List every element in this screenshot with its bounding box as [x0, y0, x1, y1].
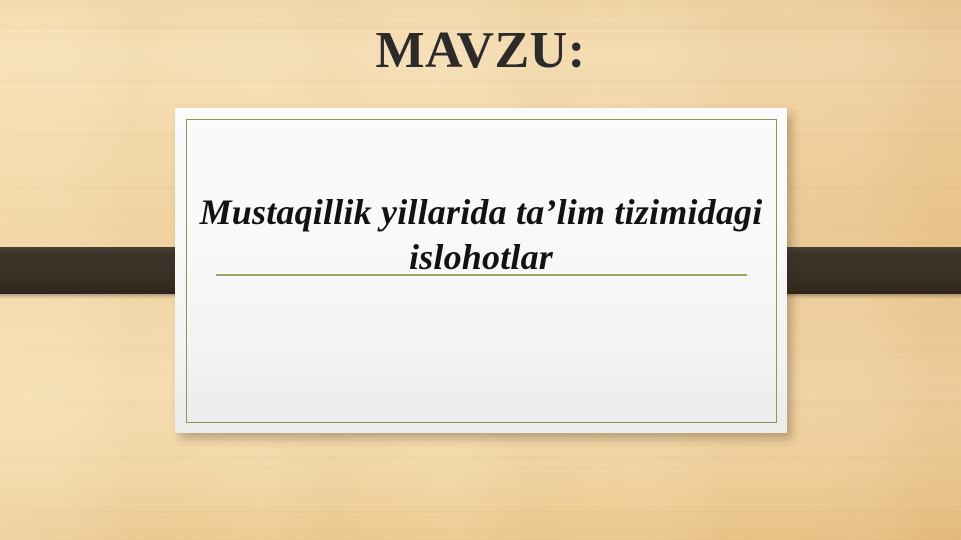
slide-title: MAVZU: — [0, 22, 961, 80]
card-body-text: Mustaqillik yillarida ta’lim tizimidagi … — [197, 190, 765, 280]
decorative-bar-right — [761, 247, 961, 294]
presentation-slide: MAVZU: Mustaqillik yillarida ta’lim tizi… — [0, 0, 961, 540]
content-card: Mustaqillik yillarida ta’lim tizimidagi … — [175, 108, 787, 433]
decorative-bar-left — [0, 247, 200, 294]
card-underline-rule — [216, 274, 747, 276]
